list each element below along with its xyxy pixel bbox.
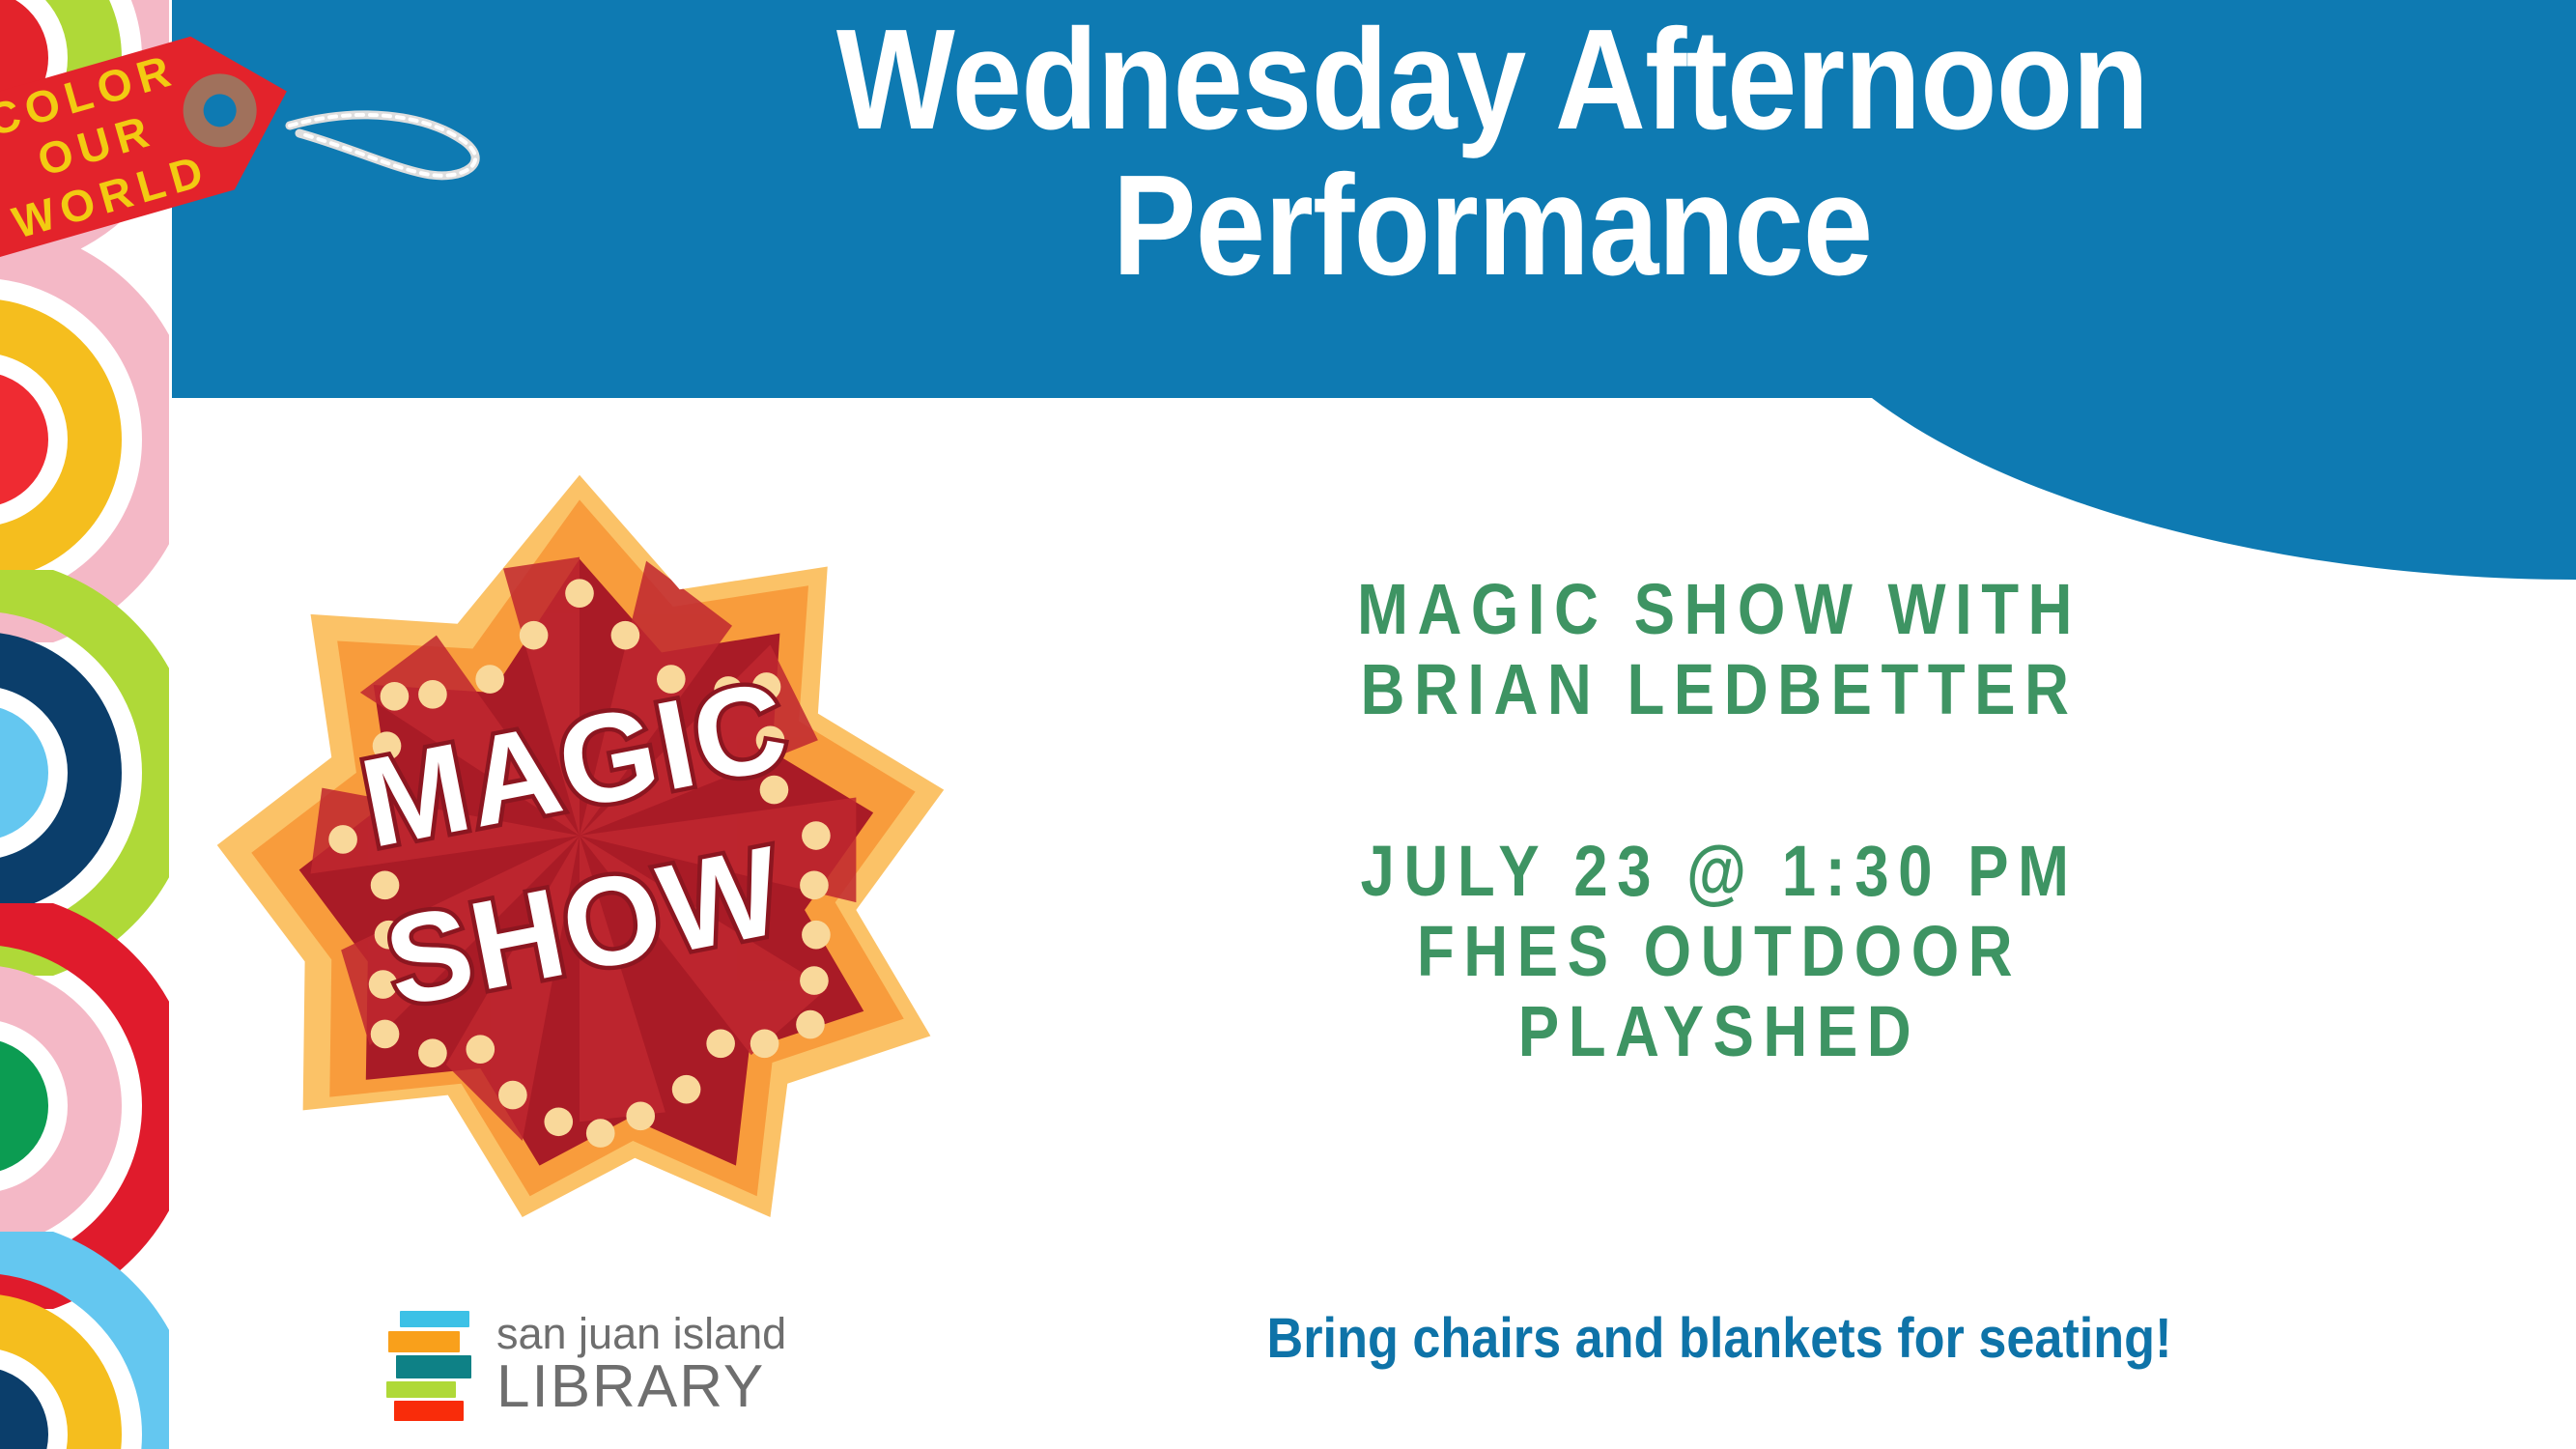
- poster-canvas: Wednesday AfternoonPerformance COLOR OUR…: [0, 0, 2576, 1449]
- logo-name-bottom: LIBRARY: [496, 1357, 786, 1417]
- seating-note: Bring chairs and blankets for seating!: [1111, 1306, 2328, 1371]
- tag-string: [290, 115, 475, 176]
- performer-heading: MAGIC SHOW WITHBRIAN LEDBETTER: [1138, 570, 2301, 730]
- magic-show-badge: MAGIC SHOW: [198, 454, 961, 1217]
- logo-name-top: san juan island: [496, 1312, 786, 1355]
- color-our-world-tag: COLOR OUR WORLD: [10, 10, 609, 386]
- logo-bars-icon: [386, 1311, 475, 1419]
- page-title: Wednesday AfternoonPerformance: [579, 8, 2406, 299]
- library-logo: san juan island LIBRARY: [386, 1299, 840, 1430]
- ring-group-blue-yellow: [0, 1232, 169, 1449]
- info-spacer: [1043, 730, 2395, 832]
- event-info-block: MAGIC SHOW WITHBRIAN LEDBETTER JULY 23 @…: [1043, 570, 2395, 1071]
- event-details: JULY 23 @ 1:30 PMFHES OUTDOORPLAYSHED: [1138, 832, 2301, 1072]
- logo-wordmark: san juan island LIBRARY: [496, 1312, 786, 1417]
